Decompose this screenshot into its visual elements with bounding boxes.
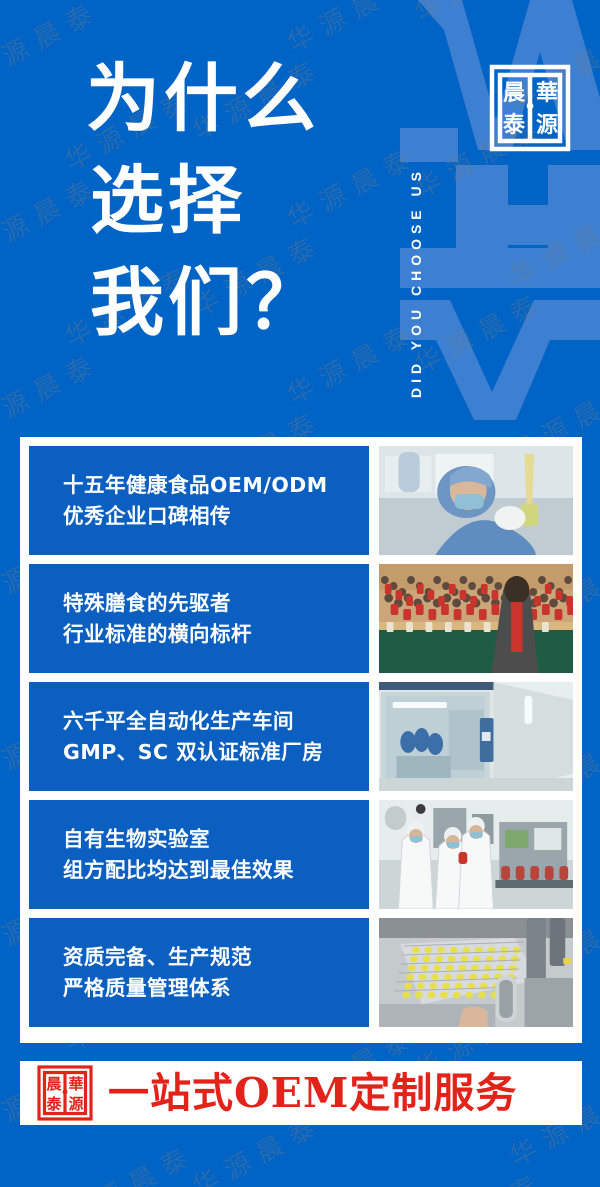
svg-text:源: 源 bbox=[68, 1095, 83, 1113]
feature-card-line-2: GMP、SC 双认证标准厂房 bbox=[63, 737, 369, 768]
title-line-3: 我们？ bbox=[86, 252, 406, 354]
feature-card: 十五年健康食品OEM/ODM优秀企业口碑相传 bbox=[29, 446, 573, 555]
feature-card-line-1: 十五年健康食品OEM/ODM bbox=[63, 470, 369, 501]
feature-card-text: 特殊膳食的先驱者行业标准的横向标杆 bbox=[29, 564, 369, 673]
brand-seal-red-icon: 華 源 晨 泰 bbox=[36, 1064, 94, 1122]
feature-card-photo bbox=[379, 800, 573, 909]
svg-text:晨: 晨 bbox=[46, 1075, 62, 1093]
vertical-english-subtitle: DID YOU CHOOSE US bbox=[408, 18, 432, 398]
cta-banner-label: 一站式OEM定制服务 bbox=[108, 1073, 517, 1114]
why-choose-us-poster: 华源晨泰 华源晨泰 华源晨泰 华源晨泰 华源晨泰 华源晨泰 华源晨泰 华源晨泰 … bbox=[0, 0, 600, 1187]
feature-card-text: 十五年健康食品OEM/ODM优秀企业口碑相传 bbox=[29, 446, 369, 555]
svg-text:晨: 晨 bbox=[503, 80, 526, 106]
svg-text:華: 華 bbox=[536, 80, 558, 106]
bottom-cta-banner[interactable]: 華 源 晨 泰 一站式OEM定制服务 bbox=[20, 1061, 582, 1125]
feature-cards-frame: 十五年健康食品OEM/ODM优秀企业口碑相传 特殊膳食的先驱者行业标准的横向标杆 bbox=[20, 437, 582, 1043]
feature-card-text: 自有生物实验室组方配比均达到最佳效果 bbox=[29, 800, 369, 909]
feature-card-photo bbox=[379, 446, 573, 555]
title-line-2: 选择 bbox=[86, 150, 406, 252]
svg-text:華: 華 bbox=[68, 1075, 83, 1093]
feature-card-line-1: 六千平全自动化生产车间 bbox=[63, 706, 369, 737]
feature-card-photo bbox=[379, 564, 573, 673]
feature-card-photo bbox=[379, 682, 573, 791]
page-title: 为什么 选择 我们？ bbox=[86, 48, 406, 354]
feature-card-photo bbox=[379, 918, 573, 1027]
feature-card-line-1: 特殊膳食的先驱者 bbox=[63, 588, 369, 619]
feature-card-line-2: 优秀企业口碑相传 bbox=[63, 501, 369, 532]
feature-card-line-2: 严格质量管理体系 bbox=[63, 973, 369, 1004]
feature-cards-list: 十五年健康食品OEM/ODM优秀企业口碑相传 特殊膳食的先驱者行业标准的横向标杆 bbox=[29, 446, 573, 1034]
title-line-1: 为什么 bbox=[86, 48, 406, 150]
feature-card-text: 资质完备、生产规范严格质量管理体系 bbox=[29, 918, 369, 1027]
feature-card: 特殊膳食的先驱者行业标准的横向标杆 bbox=[29, 564, 573, 673]
svg-text:泰: 泰 bbox=[502, 112, 526, 138]
svg-text:泰: 泰 bbox=[45, 1095, 62, 1113]
poster-header: 为什么 选择 我们？ DID YOU CHOOSE US 華 源 晨 泰 bbox=[0, 0, 600, 437]
feature-card-line-2: 行业标准的横向标杆 bbox=[63, 619, 369, 650]
feature-card-line-1: 资质完备、生产规范 bbox=[63, 942, 369, 973]
feature-card: 六千平全自动化生产车间GMP、SC 双认证标准厂房 bbox=[29, 682, 573, 791]
svg-text:源: 源 bbox=[536, 112, 558, 138]
feature-card-text: 六千平全自动化生产车间GMP、SC 双认证标准厂房 bbox=[29, 682, 369, 791]
feature-card-line-2: 组方配比均达到最佳效果 bbox=[63, 855, 369, 886]
feature-card: 自有生物实验室组方配比均达到最佳效果 bbox=[29, 800, 573, 909]
feature-card-line-1: 自有生物实验室 bbox=[63, 824, 369, 855]
brand-seal-icon: 華 源 晨 泰 bbox=[487, 62, 573, 154]
feature-card: 资质完备、生产规范严格质量管理体系 bbox=[29, 918, 573, 1027]
